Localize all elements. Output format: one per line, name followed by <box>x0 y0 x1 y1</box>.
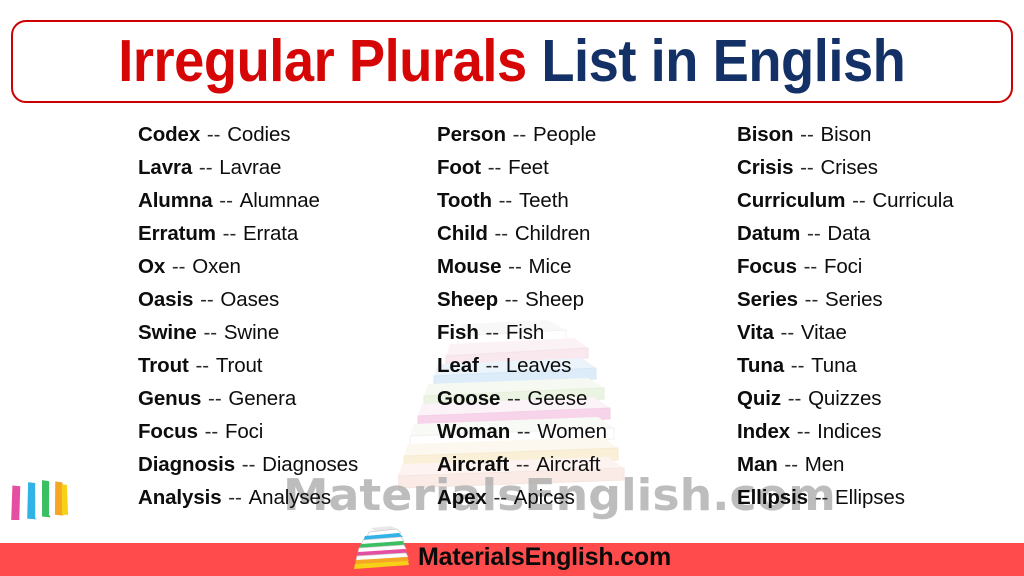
singular-word: Focus <box>737 255 797 278</box>
list-item[interactable]: Fish -- Fish <box>437 316 607 349</box>
plural-word: Leaves <box>506 354 572 377</box>
list-item[interactable]: Curriculum -- Curricula <box>737 184 954 217</box>
plural-word: Ellipses <box>835 486 905 509</box>
plural-word: Mice <box>529 255 572 278</box>
separator: -- <box>512 123 528 146</box>
list-item[interactable]: Ox -- Oxen <box>138 250 358 283</box>
separator: -- <box>484 354 500 377</box>
list-item[interactable]: Focus -- Foci <box>138 415 358 448</box>
plural-word: Foci <box>225 420 263 443</box>
singular-word: Apex <box>437 486 487 509</box>
separator: -- <box>199 288 215 311</box>
plural-column-3: Bison -- Bison Crisis -- Crises Curricul… <box>737 118 954 514</box>
separator: -- <box>202 321 218 344</box>
plural-word: Lavrae <box>219 156 281 179</box>
singular-word: Tooth <box>437 189 492 212</box>
list-item[interactable]: Lavra -- Lavrae <box>138 151 358 184</box>
singular-word: Focus <box>138 420 198 443</box>
separator: -- <box>222 222 238 245</box>
singular-word: Leaf <box>437 354 479 377</box>
list-item[interactable]: Aircraft -- Aircraft <box>437 448 607 481</box>
separator: -- <box>515 453 531 476</box>
separator: -- <box>218 189 234 212</box>
separator: -- <box>198 156 214 179</box>
singular-word: Curriculum <box>737 189 845 212</box>
plural-word: Bison <box>821 123 872 146</box>
page-title-red: Irregular Plurals <box>118 28 527 94</box>
plural-word: Vitae <box>801 321 847 344</box>
plural-column-1: Codex -- Codies Lavra -- Lavrae Alumna -… <box>138 118 358 514</box>
plural-word: Women <box>537 420 607 443</box>
singular-word: Man <box>737 453 778 476</box>
plural-word: People <box>533 123 596 146</box>
list-item[interactable]: Trout -- Trout <box>138 349 358 382</box>
page-title: Irregular Plurals List in English <box>118 32 905 91</box>
list-item[interactable]: Man -- Men <box>737 448 954 481</box>
list-item[interactable]: Series -- Series <box>737 283 954 316</box>
plural-word: Series <box>825 288 883 311</box>
plural-word: Geese <box>527 387 587 410</box>
plural-word: Aircraft <box>536 453 600 476</box>
side-watermark-books-icon <box>6 470 68 525</box>
list-item[interactable]: Bison -- Bison <box>737 118 954 151</box>
singular-word: Trout <box>138 354 189 377</box>
separator: -- <box>227 486 243 509</box>
singular-word: Diagnosis <box>138 453 235 476</box>
list-item[interactable]: Sheep -- Sheep <box>437 283 607 316</box>
separator: -- <box>487 156 503 179</box>
plural-word: Diagnoses <box>262 453 358 476</box>
separator: -- <box>780 321 796 344</box>
separator: -- <box>507 255 523 278</box>
singular-word: Datum <box>737 222 800 245</box>
plural-column-2: Person -- People Foot -- Feet Tooth -- T… <box>437 118 607 514</box>
plural-list: Codex -- Codies Lavra -- Lavrae Alumna -… <box>0 118 1024 528</box>
list-item[interactable]: Diagnosis -- Diagnoses <box>138 448 358 481</box>
plural-word: Errata <box>243 222 298 245</box>
separator: -- <box>484 321 500 344</box>
singular-word: Aircraft <box>437 453 509 476</box>
singular-word: Ellipsis <box>737 486 808 509</box>
separator: -- <box>783 453 799 476</box>
separator: -- <box>790 354 806 377</box>
singular-word: Sheep <box>437 288 498 311</box>
separator: -- <box>207 387 223 410</box>
list-item[interactable]: Crisis -- Crises <box>737 151 954 184</box>
singular-word: Woman <box>437 420 510 443</box>
list-item[interactable]: Mouse -- Mice <box>437 250 607 283</box>
list-item[interactable]: Focus -- Foci <box>737 250 954 283</box>
separator: -- <box>493 222 509 245</box>
singular-word: Codex <box>138 123 200 146</box>
plural-word: Children <box>515 222 591 245</box>
separator: -- <box>241 453 257 476</box>
plural-word: Tuna <box>811 354 857 377</box>
separator: -- <box>171 255 187 278</box>
singular-word: Oasis <box>138 288 193 311</box>
singular-word: Crisis <box>737 156 793 179</box>
separator: -- <box>204 420 220 443</box>
separator: -- <box>516 420 532 443</box>
singular-word: Alumna <box>138 189 213 212</box>
separator: -- <box>851 189 867 212</box>
plural-word: Genera <box>228 387 296 410</box>
separator: -- <box>492 486 508 509</box>
plural-word: Data <box>827 222 870 245</box>
singular-word: Analysis <box>138 486 222 509</box>
list-item[interactable]: Analysis -- Analyses <box>138 481 358 514</box>
list-item[interactable]: Vita -- Vitae <box>737 316 954 349</box>
list-item[interactable]: Swine -- Swine <box>138 316 358 349</box>
separator: -- <box>814 486 830 509</box>
plural-word: Indices <box>817 420 881 443</box>
list-item[interactable]: Datum -- Data <box>737 217 954 250</box>
list-item[interactable]: Tooth -- Teeth <box>437 184 607 217</box>
singular-word: Mouse <box>437 255 501 278</box>
plural-word: Apices <box>514 486 575 509</box>
singular-word: Swine <box>138 321 197 344</box>
singular-word: Quiz <box>737 387 781 410</box>
list-item[interactable]: Apex -- Apices <box>437 481 607 514</box>
plural-word: Oxen <box>192 255 241 278</box>
list-item[interactable]: Woman -- Women <box>437 415 607 448</box>
list-item[interactable]: Codex -- Codies <box>138 118 358 151</box>
separator: -- <box>498 189 514 212</box>
singular-word: Fish <box>437 321 479 344</box>
list-item[interactable]: Genus -- Genera <box>138 382 358 415</box>
plural-word: Trout <box>216 354 263 377</box>
separator: -- <box>194 354 210 377</box>
plural-word: Feet <box>508 156 549 179</box>
singular-word: Person <box>437 123 506 146</box>
plural-word: Swine <box>224 321 279 344</box>
plural-word: Foci <box>824 255 862 278</box>
list-item[interactable]: Leaf -- Leaves <box>437 349 607 382</box>
singular-word: Erratum <box>138 222 216 245</box>
list-item[interactable]: Person -- People <box>437 118 607 151</box>
plural-word: Alumnae <box>240 189 320 212</box>
singular-word: Vita <box>737 321 774 344</box>
plural-word: Sheep <box>525 288 584 311</box>
separator: -- <box>796 420 812 443</box>
list-item[interactable]: Child -- Children <box>437 217 607 250</box>
plural-word: Crises <box>820 156 878 179</box>
plural-word: Fish <box>506 321 544 344</box>
list-item[interactable]: Oasis -- Oases <box>138 283 358 316</box>
singular-word: Goose <box>437 387 500 410</box>
separator: -- <box>804 288 820 311</box>
separator: -- <box>506 387 522 410</box>
singular-word: Tuna <box>737 354 784 377</box>
list-item[interactable]: Foot -- Feet <box>437 151 607 184</box>
singular-word: Ox <box>138 255 165 278</box>
plural-word: Quizzes <box>808 387 881 410</box>
plural-word: Teeth <box>519 189 569 212</box>
separator: -- <box>787 387 803 410</box>
list-item[interactable]: Ellipsis -- Ellipses <box>737 481 954 514</box>
list-item[interactable]: Index -- Indices <box>737 415 954 448</box>
separator: -- <box>504 288 520 311</box>
singular-word: Index <box>737 420 790 443</box>
list-item[interactable]: Erratum -- Errata <box>138 217 358 250</box>
separator: -- <box>803 255 819 278</box>
page-title-box: Irregular Plurals List in English <box>11 20 1013 103</box>
footer-books-logo-icon <box>353 526 409 575</box>
plural-word: Codies <box>227 123 290 146</box>
list-item[interactable]: Alumna -- Alumnae <box>138 184 358 217</box>
list-item[interactable]: Tuna -- Tuna <box>737 349 954 382</box>
plural-word: Oases <box>220 288 279 311</box>
plural-word: Analyses <box>249 486 331 509</box>
separator: -- <box>799 123 815 146</box>
singular-word: Foot <box>437 156 481 179</box>
footer: MaterialsEnglish.com <box>0 529 1024 576</box>
separator: -- <box>799 156 815 179</box>
plural-word: Curricula <box>872 189 953 212</box>
plural-word: Men <box>805 453 845 476</box>
separator: -- <box>806 222 822 245</box>
singular-word: Lavra <box>138 156 192 179</box>
singular-word: Bison <box>737 123 793 146</box>
singular-word: Child <box>437 222 488 245</box>
separator: -- <box>206 123 222 146</box>
page-title-navy: List in English <box>527 28 906 94</box>
singular-word: Genus <box>138 387 201 410</box>
footer-site-name[interactable]: MaterialsEnglish.com <box>418 545 671 570</box>
list-item[interactable]: Quiz -- Quizzes <box>737 382 954 415</box>
singular-word: Series <box>737 288 798 311</box>
list-item[interactable]: Goose -- Geese <box>437 382 607 415</box>
